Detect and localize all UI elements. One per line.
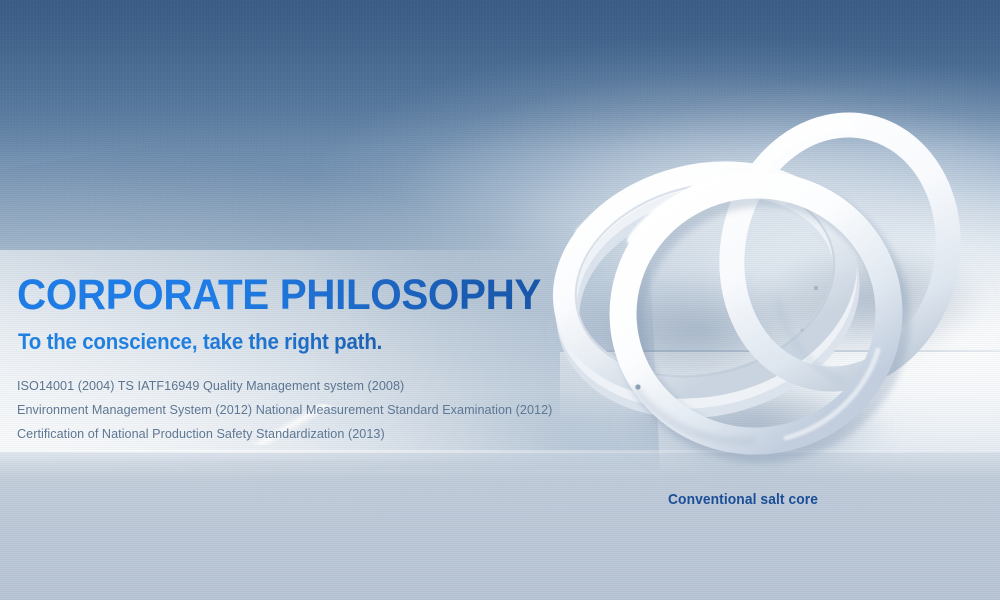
certification-line: ISO14001 (2004) TS IATF16949 Quality Man… bbox=[17, 374, 618, 398]
copy-block: CORPORATE PHILOSOPHY To the conscience, … bbox=[17, 272, 637, 446]
certification-line: Certification of National Production Saf… bbox=[17, 422, 618, 446]
corporate-philosophy-banner: CORPORATE PHILOSOPHY To the conscience, … bbox=[0, 0, 1000, 600]
ring-pinhole bbox=[814, 286, 818, 290]
certification-list: ISO14001 (2004) TS IATF16949 Quality Man… bbox=[17, 374, 637, 446]
certification-line: Environment Management System (2012) Nat… bbox=[17, 398, 618, 422]
page-title: CORPORATE PHILOSOPHY bbox=[17, 272, 600, 319]
ring-pinhole bbox=[800, 328, 804, 332]
product-caption: Conventional salt core bbox=[668, 491, 818, 508]
page-subtitle: To the conscience, take the right path. bbox=[18, 329, 594, 355]
